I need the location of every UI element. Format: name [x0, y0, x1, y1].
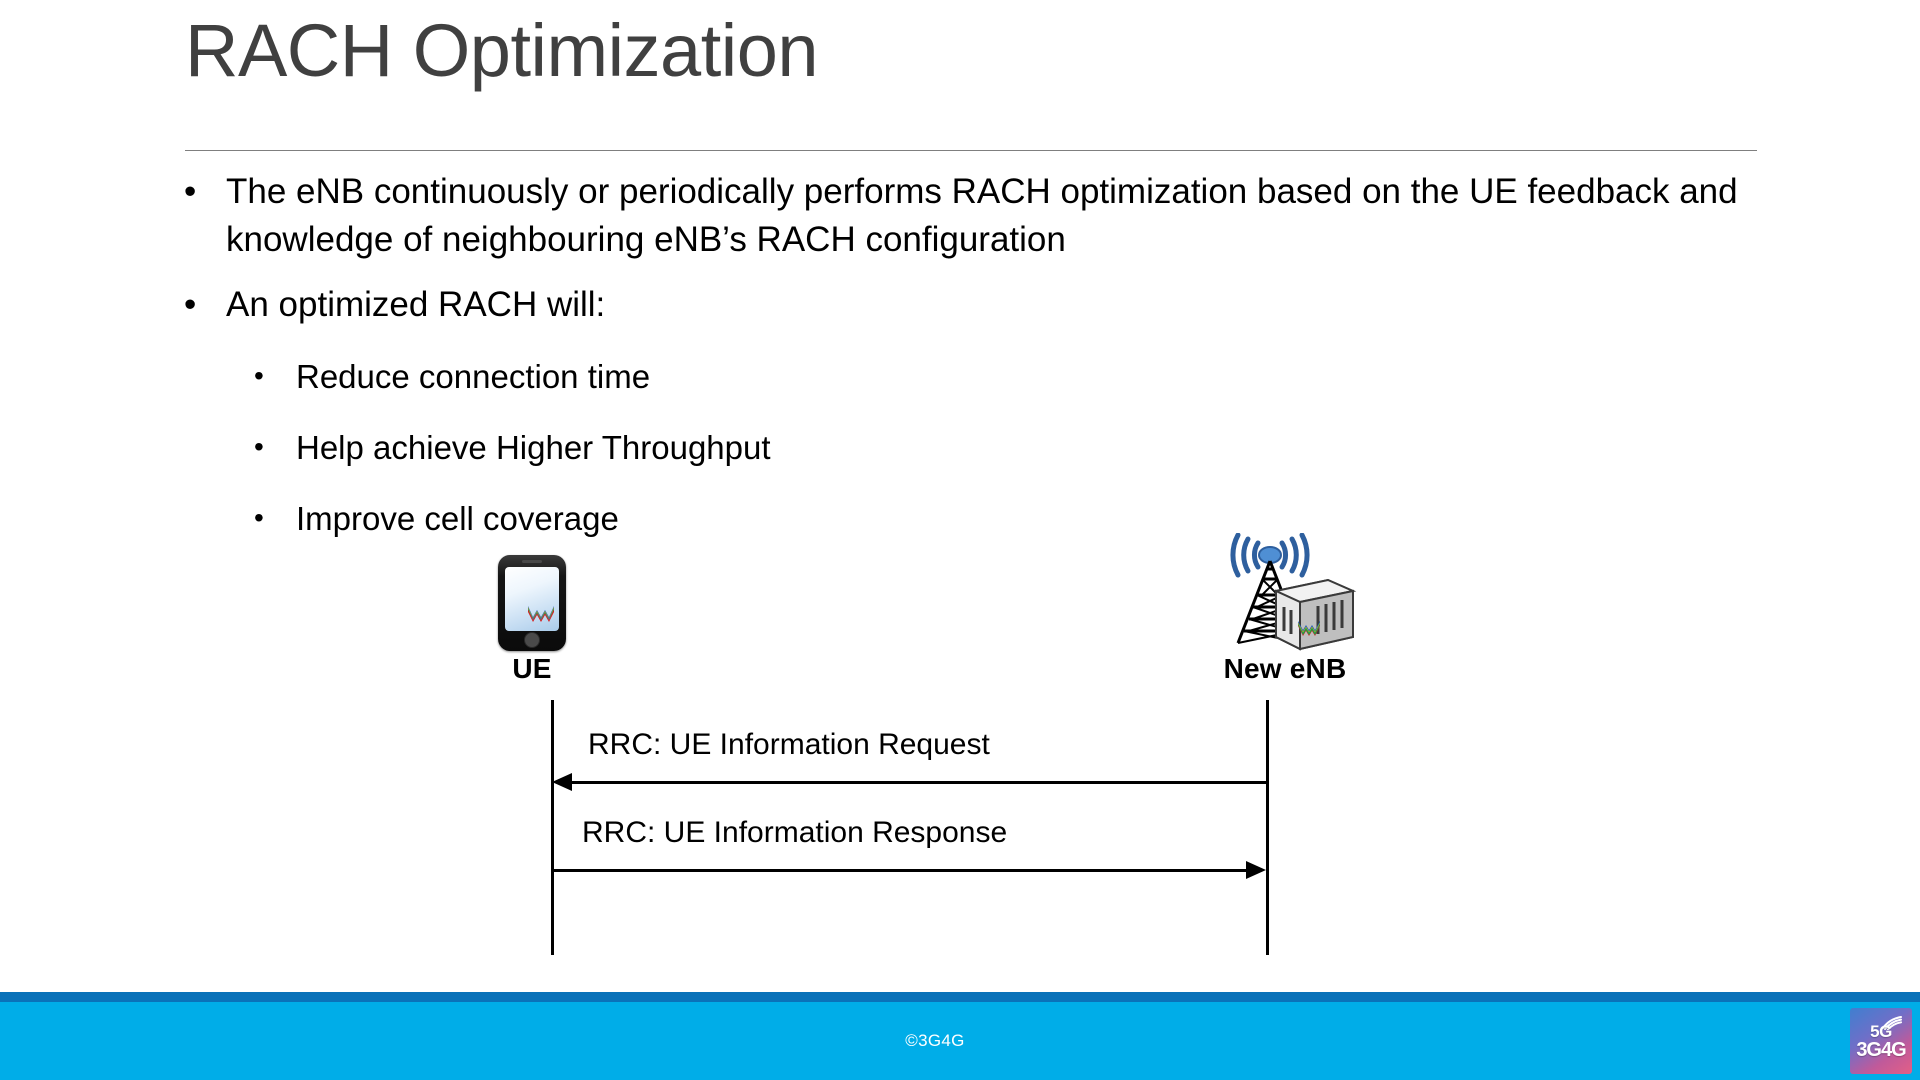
footer-bar: ©3G4G 5G 3G4G: [0, 1002, 1920, 1080]
bullet-item-3: • Reduce connection time: [178, 355, 1778, 400]
phone-home-button: [524, 632, 540, 648]
bullet-item-4: • Help achieve Higher Throughput: [178, 426, 1778, 471]
message-label-2: RRC: UE Information Response: [582, 816, 1007, 850]
slide-canvas: RACH Optimization • The eNB continuously…: [0, 0, 1920, 1080]
bullet-text: Help achieve Higher Throughput: [296, 429, 771, 466]
bullet-text: Reduce connection time: [296, 358, 650, 395]
lifeline-ue: [551, 700, 554, 955]
smartphone-icon: [498, 555, 566, 651]
brand-logo-3g4g[interactable]: 5G 3G4G: [1850, 1008, 1912, 1074]
brand-w-logo-icon: [528, 606, 554, 622]
message-line-2: [553, 869, 1246, 872]
message-arrowhead-1: [552, 773, 572, 791]
message-label-1: RRC: UE Information Request: [588, 728, 990, 762]
footer-accent-strip: [0, 992, 1920, 1002]
sequence-node-ue: UE: [452, 555, 612, 685]
bullet-marker: •: [254, 426, 264, 469]
bullet-list: • The eNB continuously or periodically p…: [178, 168, 1778, 541]
phone-screen: [505, 567, 559, 631]
tower-svg: [1210, 533, 1360, 651]
page-title: RACH Optimization: [185, 14, 818, 88]
bullet-marker: •: [184, 168, 196, 216]
sequence-diagram: UE: [0, 555, 1920, 985]
message-arrowhead-2: [1246, 861, 1266, 879]
bullet-marker: •: [254, 497, 264, 540]
sequence-node-enb: New eNB: [1185, 533, 1385, 685]
footer-copyright: ©3G4G: [0, 1031, 1920, 1051]
bullet-text: Improve cell coverage: [296, 500, 619, 537]
sequence-node-label-ue: UE: [452, 653, 612, 685]
bullet-text: The eNB continuously or periodically per…: [226, 172, 1738, 259]
lifeline-enb: [1266, 700, 1269, 955]
message-line-1: [572, 781, 1268, 784]
title-divider: [185, 150, 1757, 151]
cell-tower-server-icon: [1210, 533, 1360, 651]
bullet-text: An optimized RACH will:: [226, 285, 605, 324]
bullet-marker: •: [254, 355, 264, 398]
sequence-node-label-enb: New eNB: [1185, 653, 1385, 685]
bullet-marker: •: [184, 281, 196, 329]
phone-speaker: [522, 560, 542, 563]
bullet-item-2: • An optimized RACH will:: [178, 281, 1778, 329]
bullet-item-1: • The eNB continuously or periodically p…: [178, 168, 1778, 263]
logo-line-3g4g: 3G4G: [1850, 1039, 1912, 1062]
bullet-item-5: • Improve cell coverage: [178, 497, 1778, 542]
